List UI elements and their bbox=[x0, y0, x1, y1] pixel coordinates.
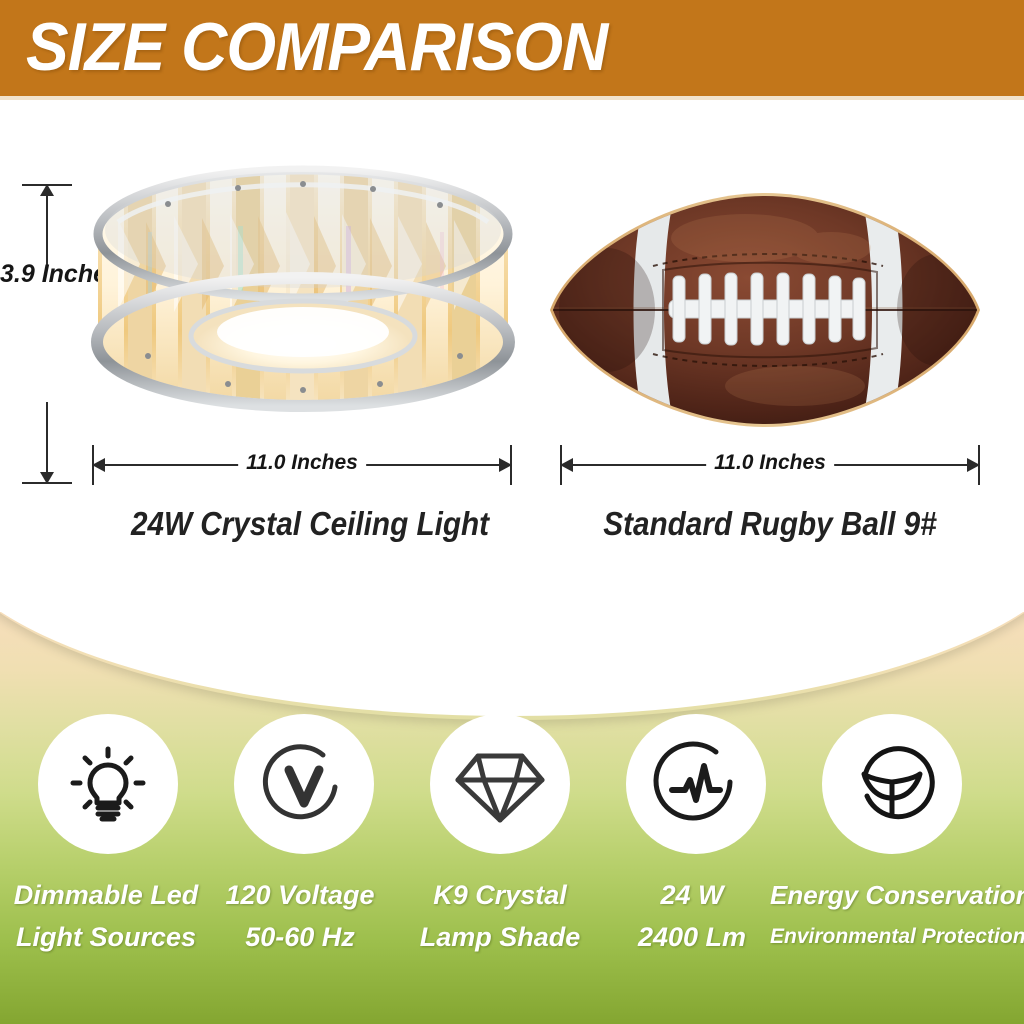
horizontal-dimension-line-light: 11.0 Inches bbox=[92, 445, 512, 491]
feature-icon-cell-3[interactable] bbox=[430, 714, 570, 854]
feature-icon-cell-2[interactable] bbox=[234, 714, 374, 854]
dimension-stem-upper bbox=[46, 194, 48, 266]
feature-icon-cell-5[interactable] bbox=[822, 714, 962, 854]
feature-label-2: 120 Voltage 50-60 Hz bbox=[205, 874, 395, 958]
vertical-dimension-line bbox=[22, 184, 72, 484]
feature-label-5: Energy Conservation Environmental Protec… bbox=[770, 874, 1024, 958]
curve-mask bbox=[0, 612, 1024, 716]
feature-icon-cell-4[interactable] bbox=[626, 714, 766, 854]
eco-leaf-circle-icon bbox=[822, 714, 962, 854]
horizontal-dimension-line-ball: 11.0 Inches bbox=[560, 445, 980, 491]
dimension-arrow-right bbox=[499, 458, 512, 472]
voltage-v-circle-icon bbox=[234, 714, 374, 854]
header-banner: SIZE COMPARISON bbox=[0, 0, 1024, 96]
caption-crystal-ceiling-light: 24W Crystal Ceiling Light bbox=[121, 505, 499, 543]
size-comparison-section: 3.9 Inches bbox=[0, 100, 1024, 620]
dimension-arrow-left bbox=[560, 458, 573, 472]
width-dimension-label: 11.0 Inches bbox=[238, 451, 366, 475]
crystal-ceiling-light-image bbox=[88, 160, 518, 440]
width-dimension-label: 11.0 Inches bbox=[706, 451, 834, 475]
feature-label-4: 24 W 2400 Lm bbox=[612, 874, 772, 958]
pulse-wave-circle-icon bbox=[626, 714, 766, 854]
caption-rugby-ball: Standard Rugby Ball 9# bbox=[581, 505, 959, 543]
feature-label-3: K9 Crystal Lamp Shade bbox=[400, 874, 600, 958]
product-infographic: SIZE COMPARISON 3.9 Inches bbox=[0, 0, 1024, 1024]
dimension-cap-bottom bbox=[22, 482, 72, 484]
feature-label-1: Dimmable Led Light Sources bbox=[0, 874, 212, 958]
dimension-arrow-left bbox=[92, 458, 105, 472]
rugby-ball-image bbox=[545, 188, 985, 432]
dimension-stem-lower bbox=[46, 402, 48, 474]
feature-icon-row bbox=[0, 714, 1024, 854]
diamond-icon bbox=[430, 714, 570, 854]
page-title: SIZE COMPARISON bbox=[26, 8, 607, 86]
feature-icon-cell-1[interactable] bbox=[38, 714, 178, 854]
dimension-arrow-right bbox=[967, 458, 980, 472]
features-section: Dimmable Led Light Sources 120 Voltage 5… bbox=[0, 612, 1024, 1024]
feature-label-row: Dimmable Led Light Sources 120 Voltage 5… bbox=[0, 874, 1024, 984]
light-bulb-icon bbox=[38, 714, 178, 854]
